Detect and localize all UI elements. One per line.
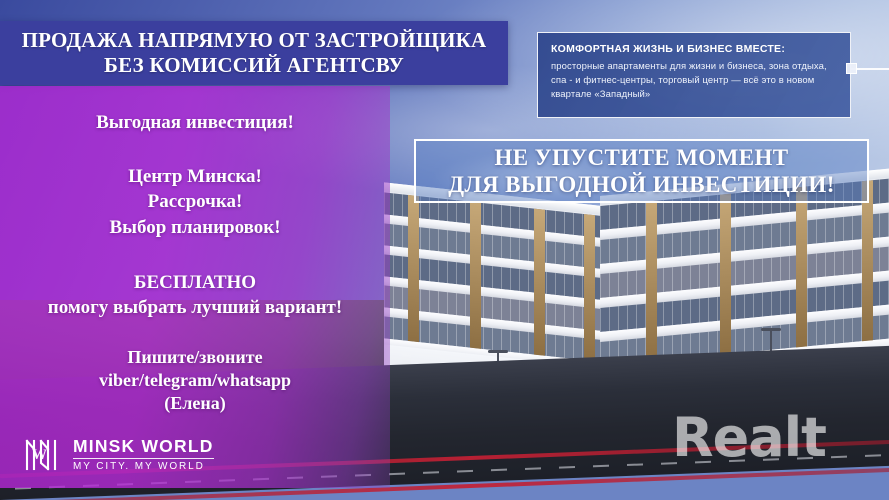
advertisement-image: ПРОДАЖА НАПРЯМУЮ ОТ ЗАСТРОЙЩИКА БЕЗ КОМИ…	[0, 0, 889, 500]
logo-name: MINSK WORLD	[73, 437, 214, 459]
logo-tagline: MY CITY. MY WORLD	[73, 462, 214, 473]
mw-monogram-icon: W	[24, 437, 64, 473]
banner-line-1: НЕ УПУСТИТЕ МОМЕНТ	[495, 145, 789, 170]
accent-column	[646, 201, 657, 362]
callout-connector-node-icon	[846, 63, 857, 74]
headline-bar: ПРОДАЖА НАПРЯМУЮ ОТ ЗАСТРОЙЩИКА БЕЗ КОМИ…	[0, 21, 508, 85]
headline-line-2: БЕЗ КОМИССИЙ АГЕНТСВУ	[104, 54, 404, 77]
headline-line-1: ПРОДАЖА НАПРЯМУЮ ОТ ЗАСТРОЙЩИКА	[22, 29, 487, 52]
minsk-world-logo: W MINSK WORLD MY CITY. MY WORLD	[24, 437, 214, 473]
offer-line-4: Выбор планировок!	[109, 216, 280, 239]
accent-column	[862, 180, 873, 341]
accent-column	[408, 195, 419, 342]
accent-column	[534, 209, 545, 356]
offer-line-1: Выгодная инвестиция!	[96, 111, 294, 134]
contact-line-2: viber/telegram/whatsapp	[99, 370, 291, 392]
contact-line-1: Пишите/звоните	[127, 347, 262, 369]
svg-text:W: W	[32, 447, 47, 463]
info-callout-box: КОМФОРТНАЯ ЖИЗНЬ И БИЗНЕС ВМЕСТЕ: просто…	[537, 32, 851, 118]
info-callout-body: просторные апартаменты для жизни и бизне…	[551, 60, 837, 101]
offer-line-6: помогу выбрать лучший вариант!	[48, 296, 342, 319]
offer-line-2: Центр Минска!	[128, 165, 262, 188]
banner-line-2: ДЛЯ ВЫГОДНОЙ ИНВЕСТИЦИИ!	[448, 172, 835, 197]
accent-column	[720, 194, 731, 355]
contact-line-3: (Елена)	[164, 393, 225, 415]
accent-column	[470, 202, 481, 349]
logo-text-block: MINSK WORLD MY CITY. MY WORLD	[73, 437, 214, 472]
realt-watermark: Realt	[672, 411, 826, 465]
accent-column	[796, 186, 807, 347]
offer-panel: Выгодная инвестиция! Центр Минска! Расср…	[0, 86, 390, 488]
info-callout-title: КОМФОРТНАЯ ЖИЗНЬ И БИЗНЕС ВМЕСТЕ:	[551, 43, 837, 55]
offer-line-5: БЕСПЛАТНО	[134, 271, 256, 294]
accent-column	[584, 214, 595, 361]
call-to-action-banner: НЕ УПУСТИТЕ МОМЕНТ ДЛЯ ВЫГОДНОЙ ИНВЕСТИЦ…	[414, 139, 869, 203]
offer-line-3: Рассрочка!	[148, 190, 243, 213]
